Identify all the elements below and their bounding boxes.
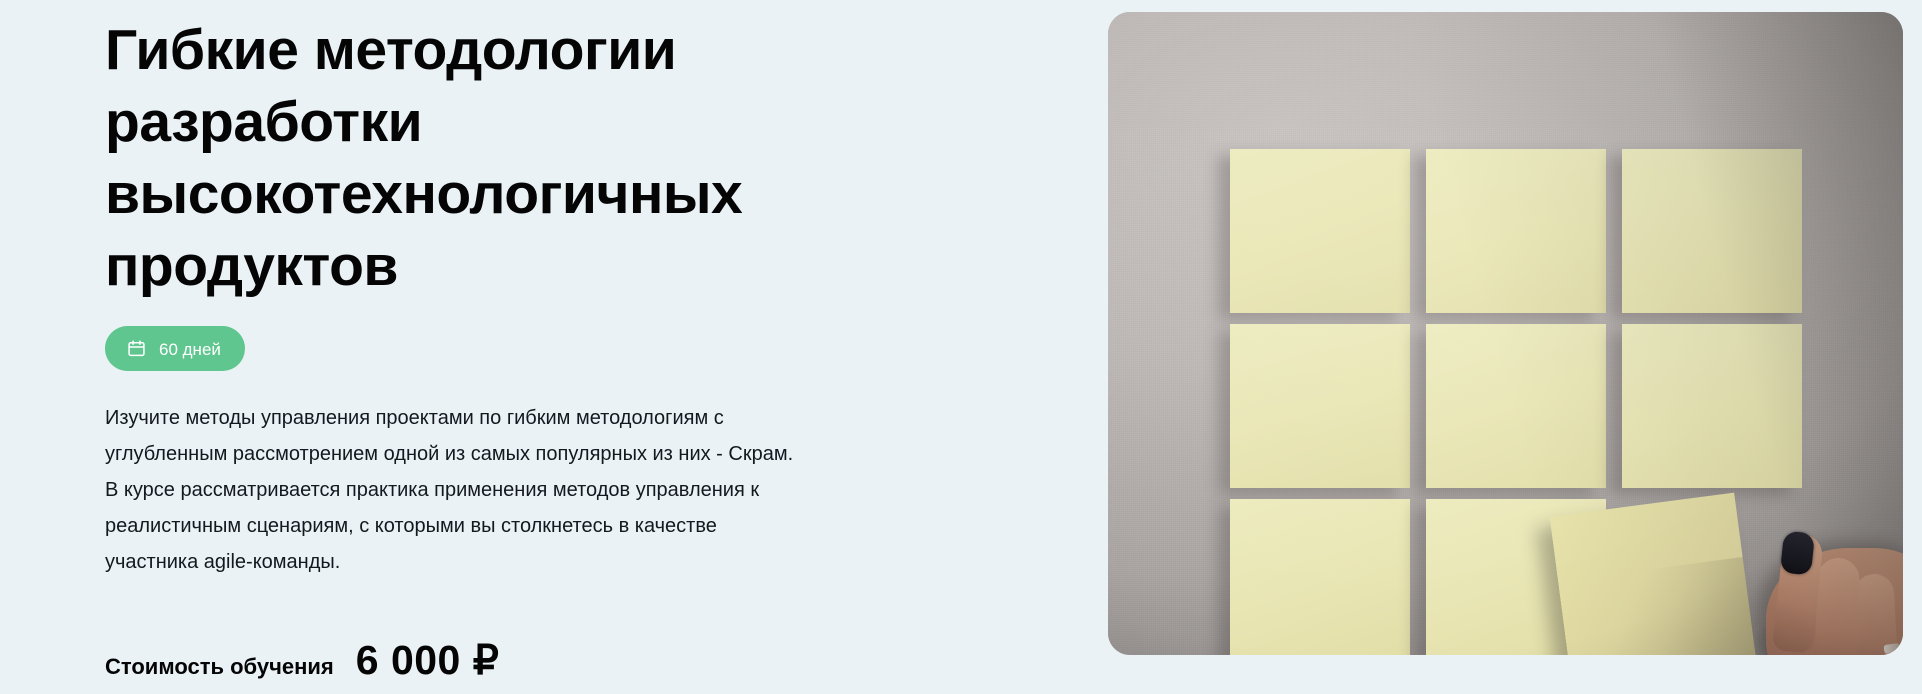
price-label: Стоимость обучения xyxy=(105,656,334,678)
badge-row: 60 дней xyxy=(105,326,995,371)
course-hero-section: Гибкие методологии разработки высокотехн… xyxy=(0,0,1922,694)
duration-badge: 60 дней xyxy=(105,326,245,371)
hero-image xyxy=(1108,12,1903,655)
page-title: Гибкие методологии разработки высокотехн… xyxy=(105,0,865,302)
course-description: Изучите методы управления проектами по г… xyxy=(105,400,805,580)
price-value: 6 000 ₽ xyxy=(356,640,500,681)
course-info-column: Гибкие методологии разработки высокотехн… xyxy=(105,0,995,694)
calendar-icon xyxy=(127,339,146,358)
duration-badge-label: 60 дней xyxy=(159,341,221,358)
photo-vignette xyxy=(1108,12,1903,655)
price-row: Стоимость обучения 6 000 ₽ xyxy=(105,640,499,681)
